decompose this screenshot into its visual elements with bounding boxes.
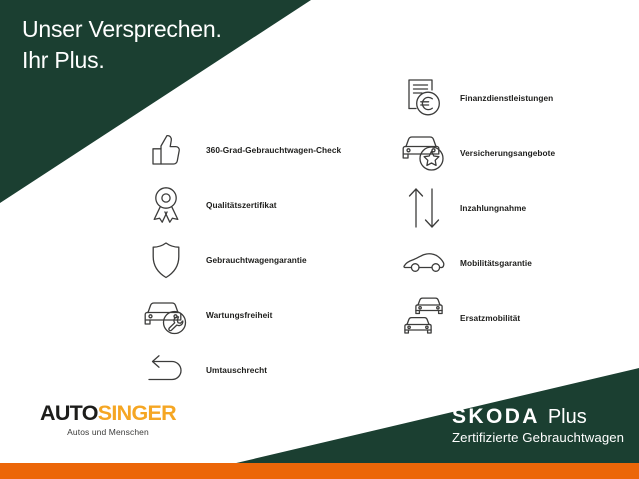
up-down-arrows-icon [398, 185, 450, 231]
feature-item: Ersatzmobilität [398, 290, 555, 345]
car-wrench-icon [140, 292, 192, 338]
thumbs-up-icon [140, 127, 192, 173]
feature-label: Versicherungsangebote [450, 148, 555, 158]
feature-label: Finanzdienstleistungen [450, 93, 553, 103]
award-rosette-icon [140, 182, 192, 228]
skoda-plus-logo: ŠKODA Plus Zertifizierte Gebrauchtwagen [452, 405, 624, 446]
feature-item: 360-Grad-Gebrauchtwagen-Check [140, 122, 341, 177]
feature-item: Gebrauchtwagengarantie [140, 232, 341, 287]
return-arrow-icon [140, 347, 192, 393]
feature-label: Umtauschrecht [192, 365, 267, 375]
document-euro-icon [398, 75, 450, 121]
car-star-icon [398, 130, 450, 176]
feature-label: Wartungsfreiheit [192, 310, 272, 320]
feature-list-left: 360-Grad-Gebrauchtwagen-Check Qualitätsz… [140, 122, 341, 397]
orange-bottom-bar [0, 463, 639, 479]
feature-item: Finanzdienstleistungen [398, 70, 555, 125]
promo-banner: Unser Versprechen. Ihr Plus. 360-Grad-Ge… [0, 0, 639, 479]
headline-line-1: Unser Versprechen. [22, 14, 222, 45]
feature-list-right: Finanzdienstleistungen Versicherungsange… [398, 70, 555, 345]
headline-line-2: Ihr Plus. [22, 45, 105, 76]
feature-label: 360-Grad-Gebrauchtwagen-Check [192, 145, 341, 155]
two-cars-icon [398, 295, 450, 341]
feature-item: Qualitätszertifikat [140, 177, 341, 232]
feature-item: Wartungsfreiheit [140, 287, 341, 342]
shield-icon [140, 237, 192, 283]
autosinger-tagline: Autos und Menschen [33, 427, 183, 438]
feature-label: Inzahlungnahme [450, 203, 526, 213]
autosinger-word-accent: SINGER [98, 401, 176, 425]
feature-item: Inzahlungnahme [398, 180, 555, 235]
skoda-subtitle: Zertifizierte Gebrauchtwagen [452, 430, 624, 446]
autosinger-wordmark: AUTOSINGER [33, 402, 183, 425]
feature-label: Mobilitätsgarantie [450, 258, 532, 268]
skoda-plus-word: Plus [548, 406, 587, 429]
car-side-icon [398, 240, 450, 286]
feature-label: Gebrauchtwagengarantie [192, 255, 307, 265]
feature-item: Umtauschrecht [140, 342, 341, 397]
skoda-wordmark: ŠKODA [452, 405, 540, 428]
feature-item: Mobilitätsgarantie [398, 235, 555, 290]
feature-item: Versicherungsangebote [398, 125, 555, 180]
feature-label: Ersatzmobilität [450, 313, 520, 323]
autosinger-word-primary: AUTO [40, 401, 98, 425]
skoda-wordmark-row: ŠKODA Plus [452, 405, 624, 429]
autosinger-logo: AUTOSINGER Autos und Menschen [33, 402, 183, 438]
feature-label: Qualitätszertifikat [192, 200, 277, 210]
